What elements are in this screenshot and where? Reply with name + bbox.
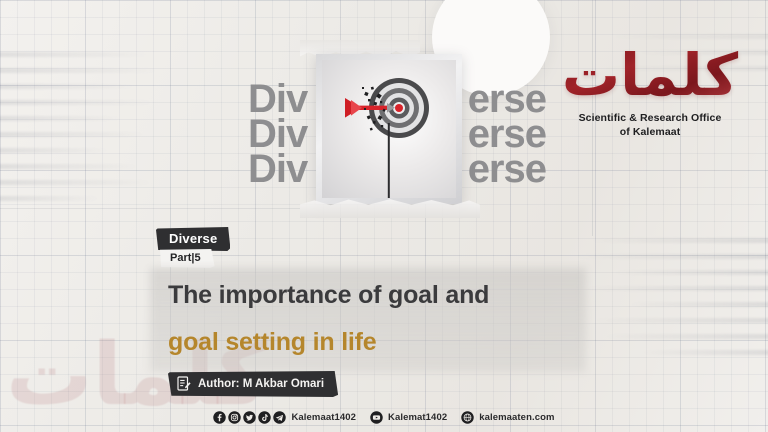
facebook-icon[interactable] [213, 411, 226, 424]
author-badge: Author: M Akbar Omari [168, 371, 338, 397]
wordmark-left-column: Div Div Div [248, 82, 307, 187]
document-pen-icon [177, 376, 191, 391]
horizontal-rule-decor [0, 208, 300, 209]
headline-line-1: The importance of goal and [168, 280, 588, 310]
brand-logo: كلمات Scientific & Research Office of Ka… [550, 46, 750, 139]
social-group-website: kalemaaten.com [461, 411, 554, 424]
headline-line-2: goal setting in life [168, 327, 588, 357]
logo-subtitle: Scientific & Research Office of Kalemaat [550, 111, 750, 139]
wordmark-right-column: erse erse erse [468, 82, 546, 187]
watermark-text-right [572, 238, 768, 366]
wordmark-left-line: Div [248, 82, 307, 117]
globe-icon[interactable] [461, 411, 474, 424]
author-label: Author: M Akbar Omari [198, 378, 324, 390]
instagram-icon[interactable] [228, 411, 241, 424]
logo-subtitle-line2: of Kalemaat [550, 125, 750, 139]
image-border [316, 54, 462, 204]
part-badge: Part|5 [160, 249, 215, 268]
category-badge: Diverse [156, 227, 230, 251]
bullseye-illustration [322, 60, 456, 198]
youtube-handle-label: Kalemat1402 [388, 412, 447, 423]
target-stand [388, 123, 390, 198]
poster-canvas: كلمات Div Div Div erse erse erse [0, 0, 768, 432]
wordmark-left-line: Div [248, 152, 307, 187]
wordmark-right-line: erse [468, 117, 546, 152]
telegram-icon[interactable] [273, 411, 286, 424]
tiktok-icon[interactable] [258, 411, 271, 424]
headline: The importance of goal and goal setting … [168, 280, 588, 357]
kalemaat-arabic-logo: كلمات [550, 46, 750, 104]
social-group-primary: Kalemaat1402 [213, 411, 356, 424]
social-icon-row [213, 411, 286, 424]
website-label: kalemaaten.com [479, 412, 554, 423]
logo-subtitle-line1: Scientific & Research Office [550, 111, 750, 125]
youtube-icon[interactable] [370, 411, 383, 424]
social-group-youtube: Kalemat1402 [370, 411, 447, 424]
wordmark-right-line: erse [468, 152, 546, 187]
wordmark-left-line: Div [248, 117, 307, 152]
social-footer: Kalemaat1402 Kalemat1402 kalemaaten.com [0, 402, 768, 432]
social-handle-label: Kalemaat1402 [291, 412, 356, 423]
hero-image-frame [316, 54, 462, 204]
watermark-text-left [0, 52, 160, 212]
twitter-icon[interactable] [243, 411, 256, 424]
